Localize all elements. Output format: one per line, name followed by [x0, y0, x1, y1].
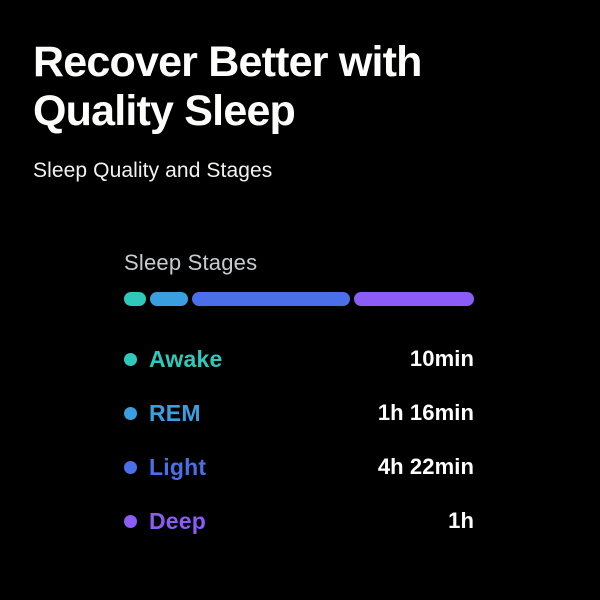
legend-value: 1h 16min: [378, 400, 474, 426]
legend-row[interactable]: Awake10min: [124, 332, 474, 386]
legend-dot-icon: [124, 353, 137, 366]
legend-dot-icon: [124, 461, 137, 474]
legend-dot-icon: [124, 515, 137, 528]
page-subtitle: Sleep Quality and Stages: [33, 158, 563, 184]
legend-row[interactable]: REM1h 16min: [124, 386, 474, 440]
legend-value: 1h: [448, 508, 474, 534]
stage-segment-light: [192, 292, 350, 306]
stage-segment-deep: [354, 292, 474, 306]
stage-segment-rem: [150, 292, 188, 306]
legend-value: 4h 22min: [378, 454, 474, 480]
sleep-stages-card: Sleep Stages Awake10minREM1h 16minLight4…: [124, 250, 474, 548]
legend-label: Awake: [149, 346, 410, 373]
legend-label: Light: [149, 454, 378, 481]
sleep-stages-title: Sleep Stages: [124, 250, 474, 276]
stage-segment-awake: [124, 292, 146, 306]
sleep-stages-bar: [124, 292, 474, 306]
page-header: Recover Better with Quality Sleep Sleep …: [33, 38, 563, 184]
legend-label: Deep: [149, 508, 448, 535]
legend-row[interactable]: Deep1h: [124, 494, 474, 548]
legend-dot-icon: [124, 407, 137, 420]
page-title: Recover Better with Quality Sleep: [33, 38, 503, 136]
sleep-stages-legend: Awake10minREM1h 16minLight4h 22minDeep1h: [124, 332, 474, 548]
legend-label: REM: [149, 400, 378, 427]
sleep-summary-screen: Recover Better with Quality Sleep Sleep …: [0, 0, 600, 600]
legend-value: 10min: [410, 346, 474, 372]
legend-row[interactable]: Light4h 22min: [124, 440, 474, 494]
